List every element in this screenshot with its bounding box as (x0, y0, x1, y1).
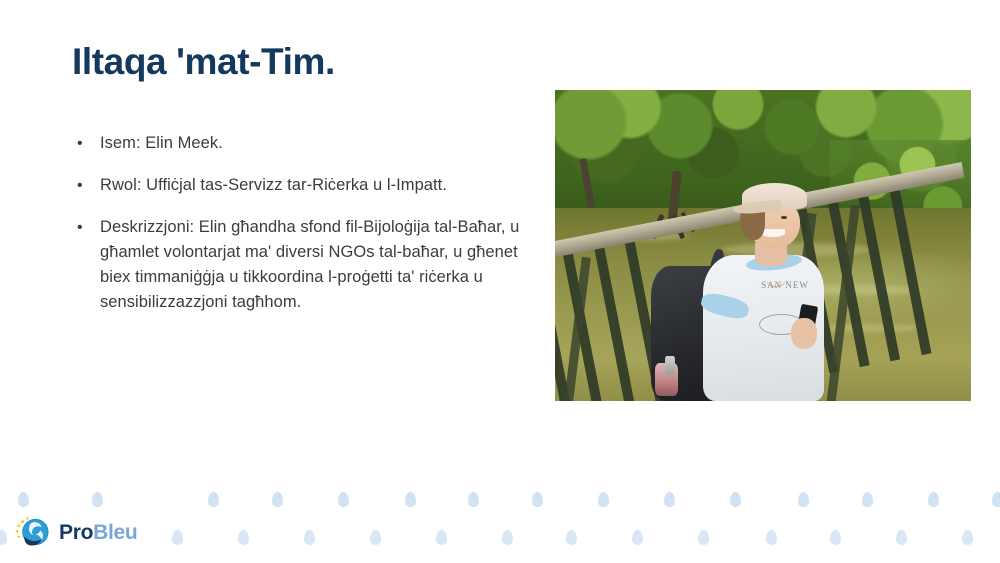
photo-railing-bar (890, 190, 931, 355)
water-drop-icon (632, 530, 643, 545)
water-drop-icon (766, 530, 777, 545)
photo-content: SAN NEW (555, 90, 971, 401)
decorative-drop-pattern (0, 480, 1000, 563)
photo-eye (781, 216, 787, 219)
water-drop-icon (468, 492, 479, 507)
photo-water-bottle (665, 356, 675, 374)
photo-hand (791, 318, 817, 348)
list-item: • Isem: Elin Meek. (72, 131, 522, 156)
list-item: • Deskrizzjoni: Elin għandha sfond fil-B… (72, 215, 522, 315)
probleu-globe-icon (14, 513, 52, 551)
water-drop-icon (992, 492, 1000, 507)
water-drop-icon (172, 530, 183, 545)
water-drop-icon (0, 530, 7, 545)
water-drop-icon (862, 492, 873, 507)
page-title-period: . (325, 41, 335, 82)
water-drop-icon (272, 492, 283, 507)
water-drop-icon (798, 492, 809, 507)
bullet-marker-icon: • (72, 173, 100, 198)
page-title: Iltaqa 'mat-Tim. (72, 40, 335, 84)
water-drop-icon (730, 492, 741, 507)
water-drop-icon (532, 492, 543, 507)
water-drop-icon (18, 492, 29, 507)
water-drop-icon (436, 530, 447, 545)
page-title-text: Iltaqa 'mat-Tim (72, 41, 325, 82)
bullet-text: Isem: Elin Meek. (100, 131, 522, 156)
slide-canvas: Iltaqa 'mat-Tim. • Isem: Elin Meek. • Rw… (0, 0, 1000, 563)
bullet-list: • Isem: Elin Meek. • Rwol: Uffiċjal tas-… (72, 131, 522, 332)
water-drop-icon (405, 492, 416, 507)
logo-text-pro: Pro (59, 521, 93, 544)
water-drop-icon (338, 492, 349, 507)
probleu-wordmark: ProBleu (59, 522, 137, 543)
water-drop-icon (896, 530, 907, 545)
photo-smile (761, 229, 785, 237)
photo-necklace (765, 266, 787, 287)
bullet-marker-icon: • (72, 215, 100, 240)
water-drop-icon (830, 530, 841, 545)
water-drop-icon (928, 492, 939, 507)
water-drop-icon (370, 530, 381, 545)
bullet-text: Rwol: Uffiċjal tas-Servizz tar-Riċerka u… (100, 173, 522, 198)
list-item: • Rwol: Uffiċjal tas-Servizz tar-Riċerka… (72, 173, 522, 198)
logo-text-bleu: Bleu (93, 521, 137, 544)
water-drop-icon (304, 530, 315, 545)
probleu-logo[interactable]: ProBleu (14, 513, 137, 551)
water-drop-icon (502, 530, 513, 545)
water-drop-icon (238, 530, 249, 545)
photo-person: SAN NEW (647, 183, 863, 401)
water-drop-icon (566, 530, 577, 545)
water-drop-icon (698, 530, 709, 545)
bullet-text: Deskrizzjoni: Elin għandha sfond fil-Bij… (100, 215, 522, 315)
water-drop-icon (664, 492, 675, 507)
water-drop-icon (92, 492, 103, 507)
team-member-photo: SAN NEW (555, 90, 971, 401)
water-drop-icon (962, 530, 973, 545)
bullet-marker-icon: • (72, 131, 100, 156)
water-drop-icon (208, 492, 219, 507)
water-drop-icon (598, 492, 609, 507)
